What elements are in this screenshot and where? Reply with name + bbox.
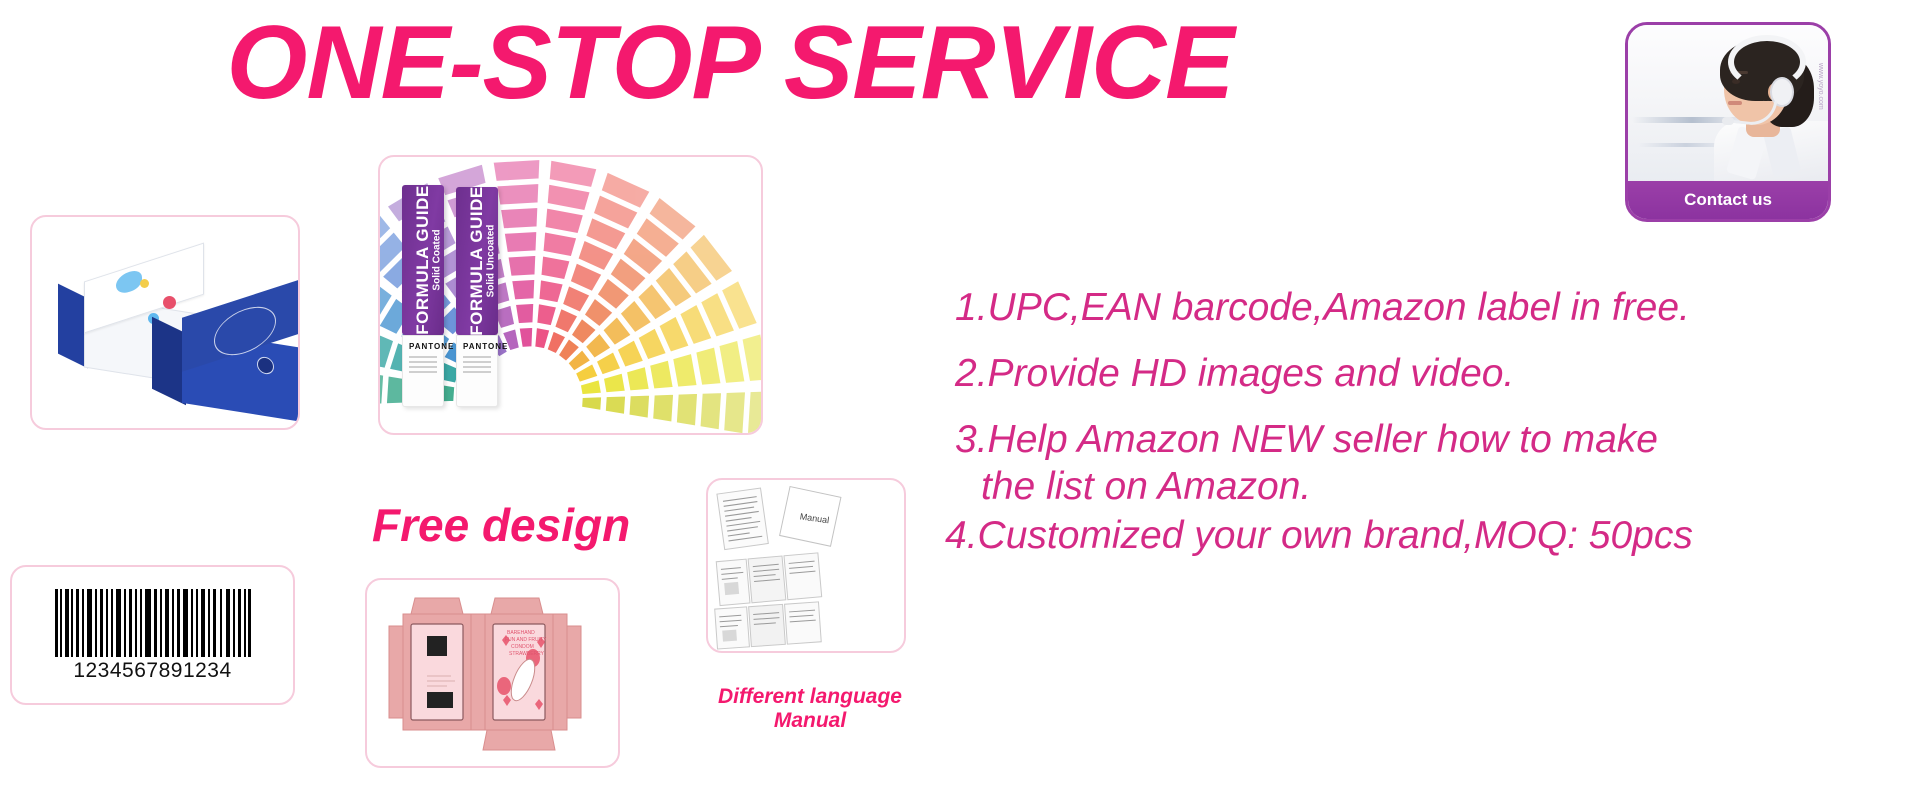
one-stop-service-banner: ONE-STOP SERVICE [0, 0, 1920, 800]
rigid-gift-box-photo [32, 217, 298, 428]
barcode-card: 1234567891234 [10, 565, 295, 705]
contact-us-card[interactable]: www.yoyo.com Contact us [1625, 22, 1831, 222]
manual-caption-line2: Manual [690, 709, 930, 733]
pantone-guide-coated-foot: PANTONE [402, 335, 444, 407]
pantone-fan-card: FORMULA GUIDE Solid Coated PANTONE FORMU… [378, 155, 763, 435]
barcode-icon [55, 589, 251, 657]
manual-caption: Different language Manual [690, 685, 930, 733]
service-list-item-3-cont: the list on Amazon. [981, 467, 1905, 506]
service-list-item-4: 4.Customized your own brand,MOQ: 50pcs [945, 516, 1905, 555]
barcode-number: 1234567891234 [12, 659, 293, 683]
packaging-dieline-artwork: BAREHAND FUN AND FRUITY CONDOM STRAWBERR… [367, 580, 618, 766]
svg-text:STRAWBERRY: STRAWBERRY [509, 651, 545, 657]
service-list: 1.UPC,EAN barcode,Amazon label in free. … [955, 288, 1905, 582]
service-list-item-3: 3.Help Amazon NEW seller how to make [955, 420, 1905, 459]
svg-text:BAREHAND: BAREHAND [507, 630, 535, 636]
watermark: www.yoyo.com [1817, 63, 1824, 110]
manual-caption-line1: Different language [690, 685, 930, 709]
contact-us-label: Contact us [1684, 190, 1772, 210]
pantone-fan-deck-photo: FORMULA GUIDE Solid Coated PANTONE FORMU… [380, 157, 761, 433]
headset-icon [1728, 35, 1806, 89]
svg-text:FUN AND FRUITY: FUN AND FRUITY [505, 637, 547, 643]
pantone-guide-uncoated-foot: PANTONE [456, 335, 498, 407]
free-design-caption: Free design [372, 498, 630, 552]
multi-language-manual-photo: Manual [708, 480, 904, 651]
service-list-item-1: 1.UPC,EAN barcode,Amazon label in free. [955, 288, 1905, 327]
pantone-guide-uncoated: FORMULA GUIDE Solid Uncoated [456, 187, 498, 335]
service-list-item-2: 2.Provide HD images and video. [955, 354, 1905, 393]
page-title: ONE-STOP SERVICE [0, 8, 1460, 118]
dieline-template-card: BAREHAND FUN AND FRUITY CONDOM STRAWBERR… [365, 578, 620, 768]
product-box-card [30, 215, 300, 430]
manual-card: Manual [706, 478, 906, 653]
svg-text:CONDOM: CONDOM [511, 644, 534, 650]
customer-service-agent-photo: www.yoyo.com [1628, 25, 1828, 185]
pantone-guide-coated: FORMULA GUIDE Solid Coated [402, 185, 444, 335]
contact-us-button[interactable]: Contact us [1628, 181, 1828, 219]
